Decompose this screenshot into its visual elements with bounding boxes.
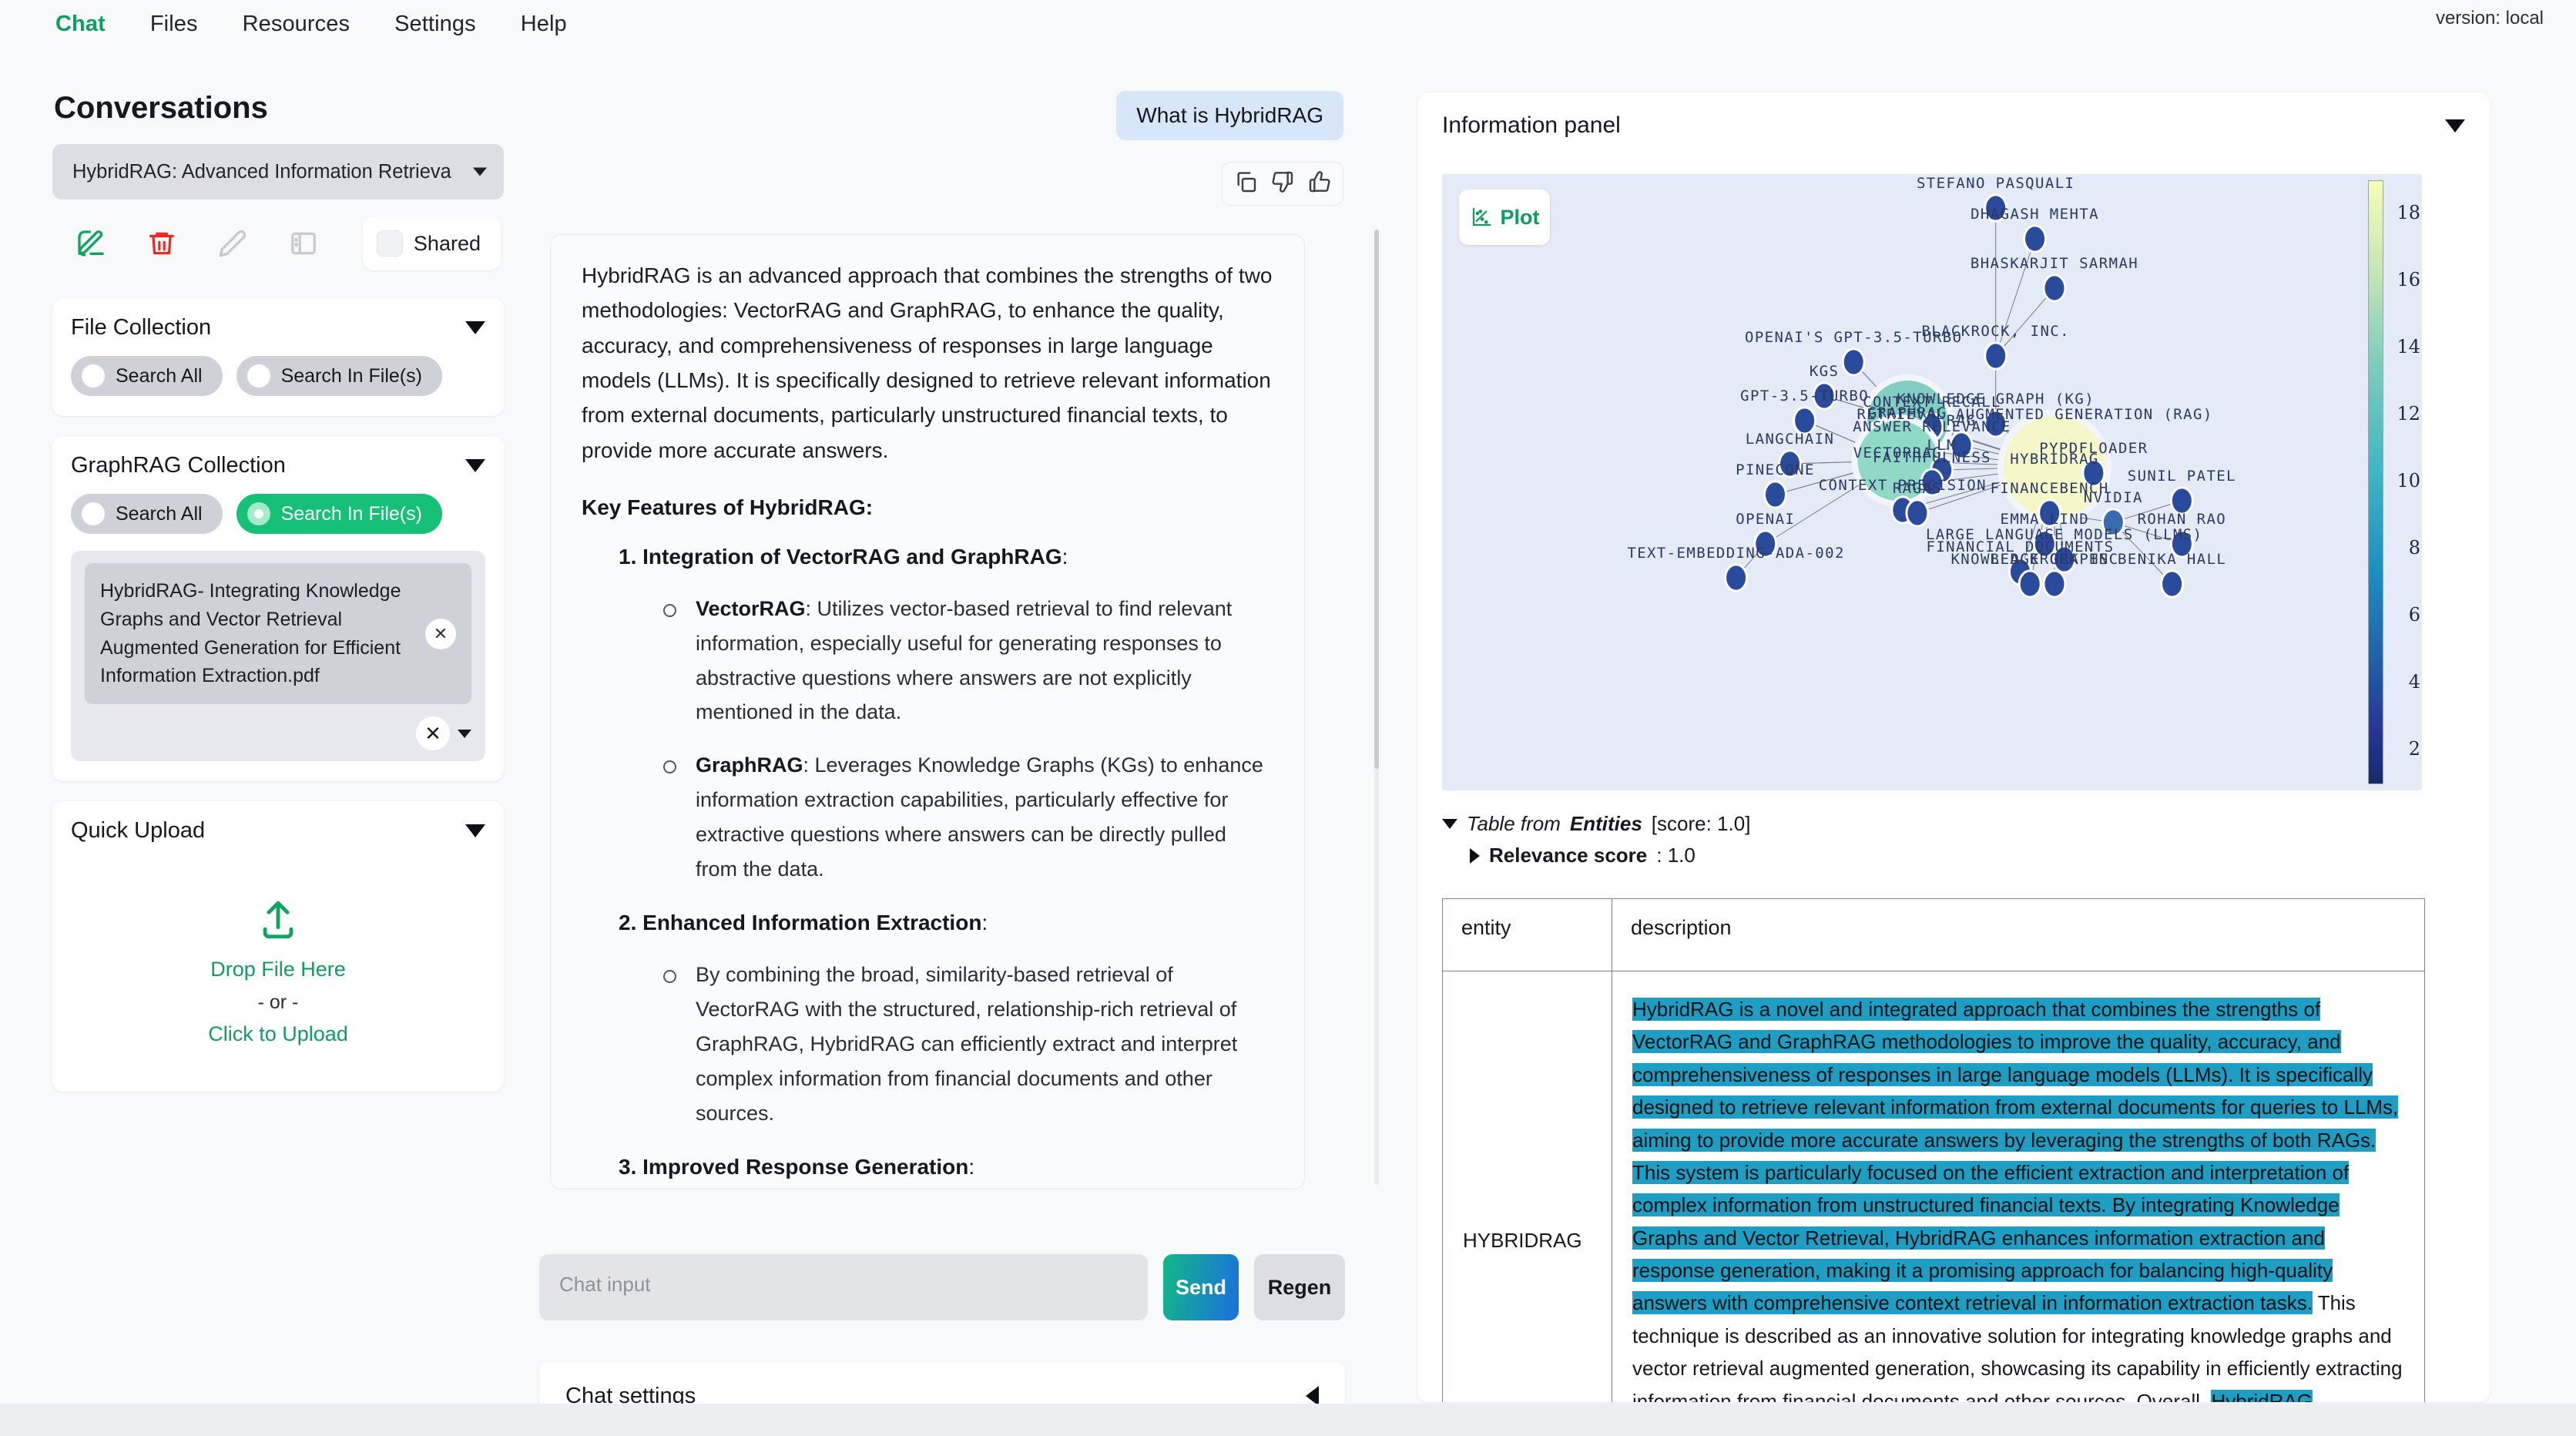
shared-label: Shared bbox=[414, 232, 481, 256]
bullet-item: GraphRAG: Leverages Knowledge Graphs (KG… bbox=[663, 748, 1273, 886]
graph-node-label: TEXT-EMBEDDING-ADA-002 bbox=[1627, 545, 1844, 562]
graph-node-label: PINECONE bbox=[1736, 461, 1815, 478]
graphrag-collection-title: GraphRAG Collection bbox=[71, 453, 286, 478]
file-collection-search-in-files[interactable]: Search In File(s) bbox=[236, 356, 442, 396]
top-navigation: Chat Files Resources Settings Help versi… bbox=[0, 0, 2576, 48]
graph-node[interactable] bbox=[1907, 500, 1928, 526]
collapse-quick-upload-icon[interactable] bbox=[465, 824, 485, 837]
plot-button[interactable]: Plot bbox=[1459, 190, 1550, 245]
nav-item-chat[interactable]: Chat bbox=[55, 12, 106, 37]
radio-icon bbox=[82, 502, 105, 525]
graph-node-label: BLACKROCK INC bbox=[1991, 551, 2119, 568]
feature-title: Enhanced Information Extraction bbox=[642, 911, 981, 934]
collapse-file-collection-icon[interactable] bbox=[465, 321, 485, 334]
graph-node[interactable] bbox=[2019, 571, 2041, 597]
table-from-label: Table from bbox=[1467, 812, 1561, 836]
plot-wrapper: STEFANO PASQUALIDHAGASH MEHTABHASKARJIT … bbox=[1442, 174, 2465, 790]
bullet-term: GraphRAG bbox=[696, 753, 803, 777]
features-heading: Key Features of HybridRAG: bbox=[582, 495, 1273, 520]
thumbs-up-icon bbox=[1307, 169, 1332, 194]
graph-node-label: RAGAS bbox=[1893, 480, 1942, 497]
file-collection-options: Search All Search In File(s) bbox=[71, 356, 485, 396]
thumbs-down-button[interactable] bbox=[1270, 169, 1295, 198]
quick-upload-header: Quick Upload bbox=[71, 818, 485, 844]
option-label: Search In File(s) bbox=[281, 503, 422, 525]
file-collection-card: File Collection Search All Search In Fil… bbox=[52, 298, 504, 416]
entities-table-body: HYBRIDRAG HybridRAG is a novel and integ… bbox=[1443, 971, 2425, 1403]
colorbar-tick: 4 bbox=[2409, 671, 2420, 693]
graph-node-label: ROHAN RAO bbox=[2138, 511, 2227, 528]
panel-icon bbox=[289, 229, 318, 258]
relevance-score-row[interactable]: Relevance score: 1.0 bbox=[1442, 844, 2465, 867]
quick-upload-title: Quick Upload bbox=[71, 818, 205, 844]
relevance-score-value: : 1.0 bbox=[1656, 844, 1696, 867]
click-to-upload-link[interactable]: Click to Upload bbox=[71, 1018, 485, 1052]
feature-item: 3. Improved Response Generation: bbox=[619, 1150, 1273, 1185]
entities-table: entity description HYBRIDRAG HybridRAG i… bbox=[1442, 898, 2425, 1402]
thumbs-up-button[interactable] bbox=[1307, 169, 1332, 198]
expand-triangle-icon[interactable] bbox=[1442, 819, 1457, 829]
sidebar: Conversations HybridRAG: Advanced Inform… bbox=[48, 83, 508, 1362]
message-actions bbox=[1222, 162, 1343, 206]
file-box-footer: ✕ bbox=[85, 716, 471, 750]
clear-all-files-icon[interactable]: ✕ bbox=[416, 716, 450, 750]
graph-node[interactable] bbox=[2162, 571, 2183, 597]
relevance-score-label: Relevance score bbox=[1489, 844, 1647, 867]
colorbar-tick: 14 bbox=[2397, 336, 2420, 357]
chat-input-row: Send Regen bbox=[539, 1254, 1345, 1320]
file-chip[interactable]: HybridRAG- Integrating Knowledge Graphs … bbox=[85, 563, 471, 704]
chevron-down-icon[interactable] bbox=[458, 730, 471, 738]
colorbar-tick: 8 bbox=[2409, 537, 2420, 559]
graph-node-label: LANGCHAIN bbox=[1746, 431, 1835, 448]
option-label: Search All bbox=[116, 365, 203, 388]
file-collection-header: File Collection bbox=[71, 315, 485, 341]
option-label: Search In File(s) bbox=[281, 365, 422, 388]
graphrag-collection-card: GraphRAG Collection Search All Search In… bbox=[52, 436, 504, 781]
new-chat-icon bbox=[75, 228, 106, 259]
toggle-panel-button[interactable] bbox=[268, 221, 339, 266]
feature-number: 3. bbox=[619, 1155, 636, 1179]
user-message: What is HybridRAG bbox=[1116, 91, 1343, 140]
graph-node-labels: STEFANO PASQUALIDHAGASH MEHTABHASKARJIT … bbox=[1627, 175, 2236, 568]
chat-column: What is HybridRAG bbox=[539, 83, 1379, 1385]
information-panel: Information panel STEFANO PASQUALIDHAGAS… bbox=[1417, 92, 2490, 1402]
file-collection-search-all[interactable]: Search All bbox=[71, 356, 223, 396]
copy-icon bbox=[1233, 169, 1258, 194]
answer-intro: HybridRAG is an advanced approach that c… bbox=[582, 258, 1273, 468]
feature-title: Integration of VectorRAG and GraphRAG bbox=[642, 545, 1062, 569]
graph-node[interactable] bbox=[2024, 226, 2046, 252]
graph-node-label: CONTEXT RECALL bbox=[1863, 394, 2001, 411]
chevron-down-icon bbox=[473, 168, 487, 176]
table-header-row: entity description bbox=[1443, 899, 2425, 971]
graph-node-label: DHAGASH MEHTA bbox=[1971, 206, 2099, 223]
rename-conversation-button[interactable] bbox=[197, 221, 268, 266]
upload-icon bbox=[256, 897, 300, 942]
cell-description: HybridRAG is a novel and integrated appr… bbox=[1612, 971, 2425, 1403]
graph-node[interactable] bbox=[2044, 571, 2065, 597]
graph-node-label: EMMA LIND bbox=[2000, 511, 2089, 528]
table-from-score: [score: 1.0] bbox=[1652, 812, 1751, 836]
chat-scroll-area: What is HybridRAG bbox=[539, 83, 1379, 1246]
copy-button[interactable] bbox=[1233, 169, 1258, 198]
graphrag-collection-options: Search All Search In File(s) bbox=[71, 494, 485, 534]
entity-name: HYBRIDRAG bbox=[1463, 993, 1592, 1256]
graph-node-label: BENIKA HALL bbox=[2118, 551, 2226, 568]
nav-item-resources[interactable]: Resources bbox=[243, 12, 351, 37]
graph-node[interactable] bbox=[1794, 408, 1816, 434]
nav-item-help[interactable]: Help bbox=[521, 12, 567, 37]
colorbar bbox=[2368, 180, 2383, 784]
nav-item-files[interactable]: Files bbox=[150, 12, 198, 37]
feature-bullets: VectorRAG: Utilizes vector-based retriev… bbox=[619, 592, 1273, 887]
or-label: - or - bbox=[71, 987, 485, 1018]
colorbar-tick: 2 bbox=[2409, 738, 2420, 760]
table-row: HYBRIDRAG HybridRAG is a novel and integ… bbox=[1443, 971, 2425, 1403]
feature-number: 2. bbox=[619, 911, 636, 934]
graphrag-search-in-files[interactable]: Search In File(s) bbox=[236, 494, 442, 534]
entities-table-head: entity description bbox=[1443, 899, 2425, 971]
conversation-select[interactable]: HybridRAG: Advanced Information Retrieva bbox=[52, 144, 504, 200]
graph-node[interactable] bbox=[2171, 488, 2192, 514]
nav-item-settings[interactable]: Settings bbox=[394, 12, 476, 37]
app-root: Chat Files Resources Settings Help versi… bbox=[0, 0, 2576, 1436]
file-chip-label: HybridRAG- Integrating Knowledge Graphs … bbox=[100, 577, 418, 690]
selected-files-box: HybridRAG- Integrating Knowledge Graphs … bbox=[71, 551, 485, 761]
version-label: version: local bbox=[2436, 8, 2544, 29]
graph-node-label: SUNIL PATEL bbox=[2128, 468, 2236, 485]
knowledge-graph-svg: STEFANO PASQUALIDHAGASH MEHTABHASKARJIT … bbox=[1442, 174, 2422, 790]
collapse-triangle-icon[interactable] bbox=[1470, 848, 1480, 864]
information-panel-title: Information panel bbox=[1442, 112, 1621, 139]
graphrag-collection-header: GraphRAG Collection bbox=[71, 453, 485, 478]
colorbar-tick: 18 bbox=[2397, 202, 2420, 223]
graph-node-label: GPT-3.5-TURBO bbox=[1740, 388, 1869, 404]
option-label: Search All bbox=[116, 503, 203, 525]
upload-dropzone[interactable]: Drop File Here - or - Click to Upload bbox=[71, 844, 485, 1072]
radio-icon bbox=[82, 364, 105, 388]
column-header-description: description bbox=[1612, 899, 2425, 971]
plot-button-label: Plot bbox=[1501, 206, 1540, 230]
collapse-graphrag-collection-icon[interactable] bbox=[465, 459, 485, 472]
bottom-strip bbox=[0, 1404, 2576, 1436]
graph-node-label: ANSWER RELEVANCE bbox=[1853, 418, 2011, 435]
graph-node-label: KGS bbox=[1810, 363, 1840, 380]
graph-node-label: STEFANO PASQUALI bbox=[1917, 175, 2075, 192]
feature-item: 1. Integration of VectorRAG and GraphRAG… bbox=[619, 540, 1273, 886]
graph-node-label: FAITHFULNESS bbox=[1873, 449, 1991, 466]
assistant-message: HybridRAG is an advanced approach that c… bbox=[550, 234, 1305, 1189]
quick-upload-card: Quick Upload Drop File Here - or - Click… bbox=[52, 801, 504, 1092]
radio-icon bbox=[247, 364, 270, 388]
shared-toggle[interactable]: Shared bbox=[363, 216, 501, 270]
graphrag-search-all[interactable]: Search All bbox=[71, 494, 223, 534]
graph-node-label: OPENAI'S GPT-3.5-TURBO bbox=[1745, 329, 1962, 346]
file-collection-title: File Collection bbox=[71, 315, 211, 341]
bullet-item: By combining the broad, similarity-based… bbox=[663, 958, 1273, 1130]
features-list: 1. Integration of VectorRAG and GraphRAG… bbox=[582, 540, 1273, 1185]
information-panel-header: Information panel bbox=[1442, 112, 2465, 139]
feature-title: Improved Response Generation bbox=[642, 1155, 968, 1179]
page-title: Conversations bbox=[48, 83, 508, 139]
description-highlight: HybridRAG is a novel and integrated appr… bbox=[1632, 998, 2398, 1314]
thumbs-down-icon bbox=[1270, 169, 1295, 194]
column-header-entity: entity bbox=[1443, 899, 1612, 971]
conversation-toolbar: Shared bbox=[48, 200, 508, 278]
colorbar-tick: 16 bbox=[2397, 269, 2420, 290]
chat-input[interactable] bbox=[539, 1254, 1148, 1320]
feature-number: 1. bbox=[619, 545, 636, 569]
bullet-term: VectorRAG bbox=[696, 597, 806, 620]
table-from-entities-row[interactable]: Table from Entities [score: 1.0] bbox=[1442, 812, 2465, 836]
graph-node[interactable] bbox=[1764, 481, 1786, 508]
colorbar-ticks: 24681012141618 bbox=[2385, 174, 2420, 790]
feature-bullets: By combining the broad, similarity-based… bbox=[619, 958, 1273, 1130]
table-from-source: Entities bbox=[1570, 812, 1642, 836]
remove-file-icon[interactable]: ✕ bbox=[425, 619, 456, 649]
shared-checkbox[interactable] bbox=[377, 230, 403, 257]
graph-node-label: PYPDFLOADER bbox=[2039, 440, 2148, 457]
colorbar-tick: 12 bbox=[2397, 403, 2420, 424]
plot-icon bbox=[1470, 206, 1493, 229]
chat-scrollbar-thumb[interactable] bbox=[1374, 230, 1379, 769]
cell-entity: HYBRIDRAG bbox=[1443, 971, 1612, 1403]
bullet-text: By combining the broad, similarity-based… bbox=[696, 963, 1237, 1124]
graph-node-label: NVIDIA bbox=[2084, 489, 2143, 506]
graph-node[interactable] bbox=[1843, 349, 1864, 375]
graph-node-label: OPENAI bbox=[1736, 511, 1795, 528]
new-chat-button[interactable] bbox=[55, 221, 126, 266]
conversation-select-value: HybridRAG: Advanced Information Retrieva bbox=[72, 161, 451, 183]
nav-items: Chat Files Resources Settings Help bbox=[0, 12, 567, 37]
graph-node[interactable] bbox=[2044, 275, 2065, 301]
colorbar-tick: 10 bbox=[2397, 470, 2420, 492]
bullet-item: VectorRAG: Utilizes vector-based retriev… bbox=[663, 592, 1273, 730]
trash-icon bbox=[147, 229, 176, 258]
regen-button[interactable]: Regen bbox=[1254, 1254, 1345, 1320]
graph-node[interactable] bbox=[1726, 565, 1747, 591]
colorbar-tick: 6 bbox=[2409, 604, 2420, 626]
graph-node[interactable] bbox=[1985, 343, 2007, 369]
feature-item: 2. Enhanced Information Extraction: By c… bbox=[619, 906, 1273, 1130]
delete-conversation-button[interactable] bbox=[126, 221, 197, 266]
knowledge-graph-plot[interactable]: STEFANO PASQUALIDHAGASH MEHTABHASKARJIT … bbox=[1442, 174, 2422, 790]
upload-icon-wrap bbox=[256, 897, 300, 942]
send-button[interactable]: Send bbox=[1163, 1254, 1239, 1320]
radio-icon-selected bbox=[247, 502, 270, 525]
graph-node-label: BHASKARJIT SARMAH bbox=[1971, 255, 2138, 272]
drop-file-label: Drop File Here bbox=[71, 953, 485, 987]
collapse-information-panel-icon[interactable] bbox=[2445, 119, 2465, 133]
pencil-icon bbox=[218, 229, 247, 258]
